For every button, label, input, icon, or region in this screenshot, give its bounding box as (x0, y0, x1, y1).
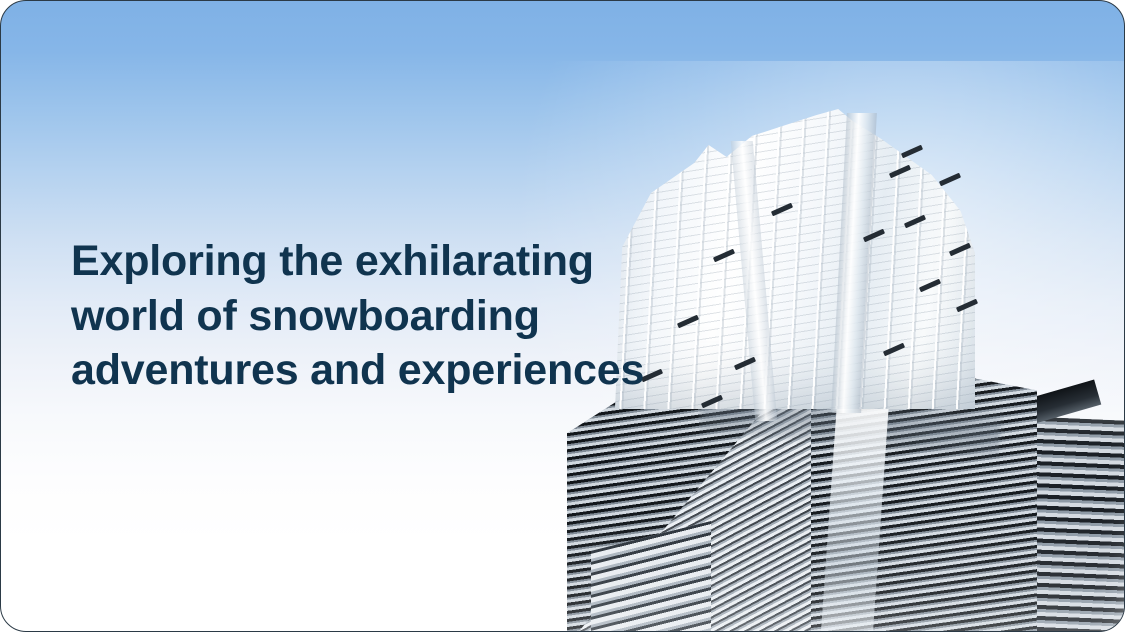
banner-content: Exploring the exhilarating world of snow… (1, 1, 1124, 631)
hero-banner: Exploring the exhilarating world of snow… (0, 0, 1125, 632)
banner-headline: Exploring the exhilarating world of snow… (1, 234, 644, 398)
